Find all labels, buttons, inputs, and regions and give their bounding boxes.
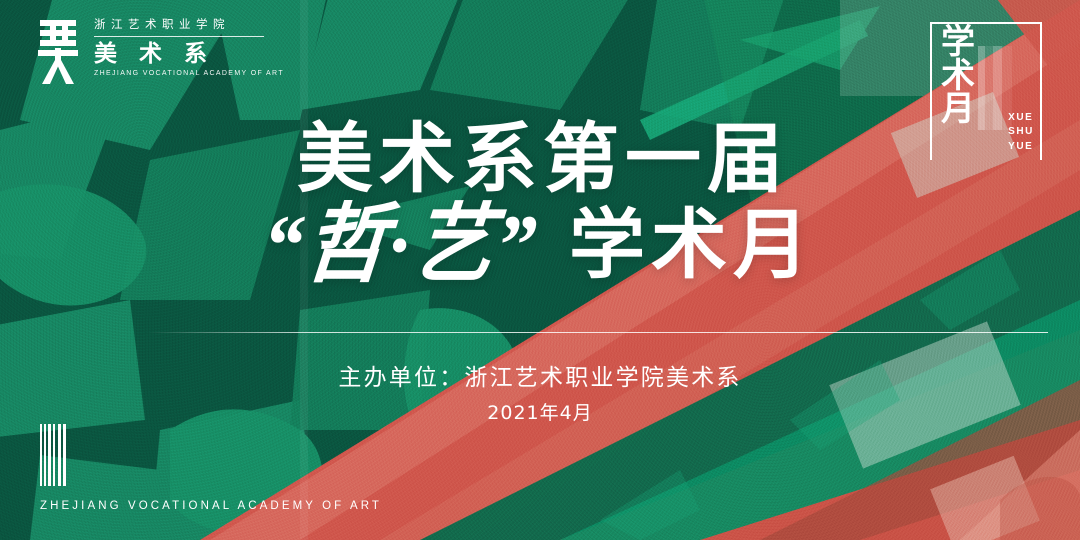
department-logo: 浙江艺术职业学院 美术系 ZHEJIANG VOCATIONAL ACADEMY… — [36, 18, 284, 84]
department-name-cn: 美术系 — [94, 40, 284, 69]
title-quoted-theme: “哲·艺” — [259, 202, 542, 288]
footer-academy-en: ZHEJIANG VOCATIONAL ACADEMY OF ART — [40, 500, 382, 512]
host-organization: 主办单位：浙江艺术职业学院美术系 — [0, 358, 1080, 392]
poster-canvas: 浙江艺术职业学院 美术系 ZHEJIANG VOCATIONAL ACADEMY… — [0, 0, 1080, 540]
title-academic-month: 学术月 — [569, 208, 815, 284]
badge-char-1: 学 — [934, 26, 982, 60]
footer-mark: ZHEJIANG VOCATIONAL ACADEMY OF ART — [40, 424, 382, 512]
event-date: 2021年4月 — [0, 398, 1080, 425]
title-line-1: 美术系第一届 — [0, 122, 1080, 200]
divider-rule-middle — [148, 332, 1048, 333]
badge-char-2: 术 — [934, 60, 982, 94]
academy-name-cn: 浙江艺术职业学院 — [94, 20, 264, 37]
stylized-mei-character-mark — [36, 18, 80, 84]
academy-name-en: ZHEJIANG VOCATIONAL ACADEMY OF ART — [94, 70, 284, 77]
department-logo-text: 浙江艺术职业学院 美术系 ZHEJIANG VOCATIONAL ACADEMY… — [94, 18, 284, 77]
barcode-stripes-mark — [40, 424, 68, 486]
title-line-2: “哲·艺” 学术月 — [0, 206, 1080, 286]
badge-vertical-title: 学 术 月 — [934, 26, 982, 127]
main-title-block: 美术系第一届 “哲·艺” 学术月 — [0, 122, 1080, 286]
